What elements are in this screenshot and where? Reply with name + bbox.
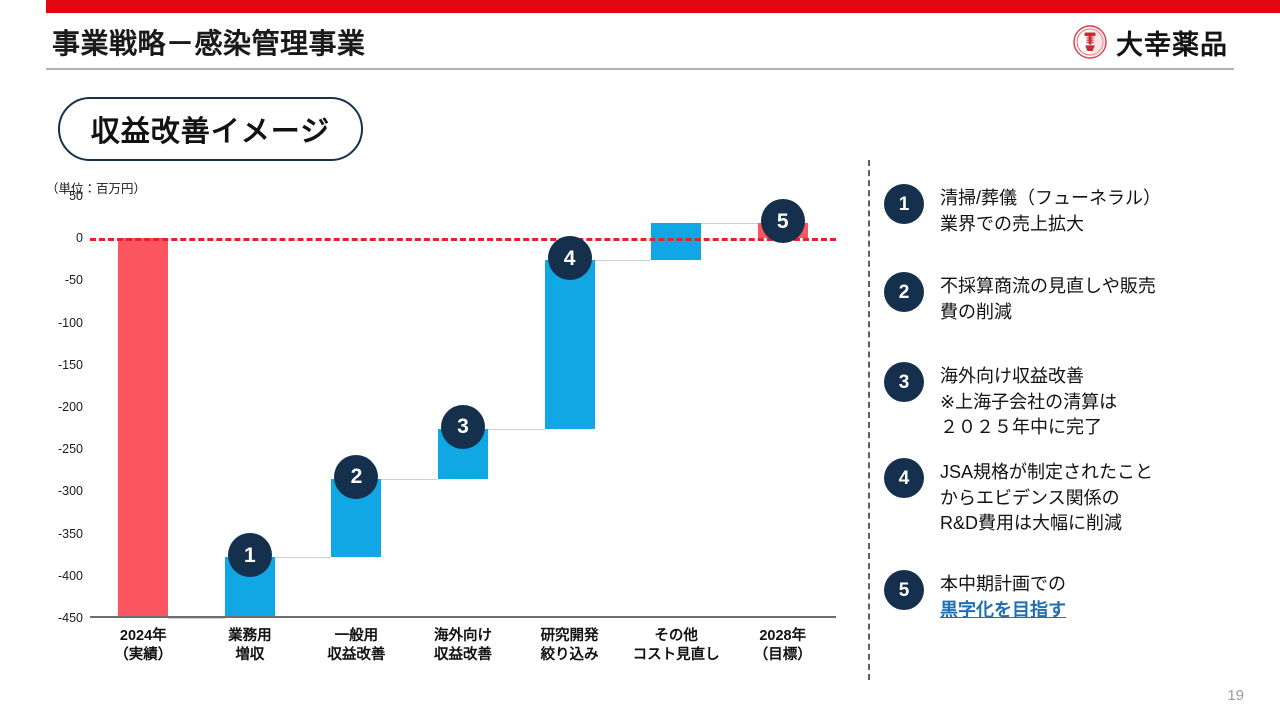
y-tick-label: -250 [58,442,83,456]
waterfall-connector [595,260,651,261]
x-axis-category-label: 海外向け収益改善 [434,627,492,665]
note-text-5: 本中期計画での黒字化を目指す [940,570,1066,623]
note-text-1: 清掃/葬儀（フューネラル） 業界での売上拡大 [940,184,1161,237]
note-emphasis-5[interactable]: 黒字化を目指す [940,600,1066,620]
waterfall-bar [545,260,595,429]
note-text-4: JSA規格が制定されたこと からエビデンス関係の R&D費用は大幅に削減 [940,458,1153,537]
y-tick-label: -300 [58,484,83,498]
waterfall-bar [118,238,168,618]
y-tick-label: -200 [58,400,83,414]
note-item-2: 2不採算商流の見直しや販売 費の削減 [884,272,1256,325]
y-tick-label: 50 [69,189,83,203]
y-tick-label: -150 [58,358,83,372]
page-title: 事業戦略－感染管理事業 [52,22,366,62]
y-tick-label: -400 [58,569,83,583]
note-badge-3: 3 [884,362,924,402]
note-item-3: 3海外向け収益改善 ※上海子会社の清算は ２０２５年中に完了 [884,362,1256,441]
x-axis-category-label: 2024年（実績） [114,627,172,665]
section-pill: 収益改善イメージ [58,97,363,161]
x-axis-category-label: その他コスト見直し [633,627,720,665]
chart-step-badge-2: 2 [334,455,378,499]
x-axis-category-label: 一般用収益改善 [327,627,385,665]
note-item-5: 5本中期計画での黒字化を目指す [884,570,1256,623]
daiko-seal-icon [1073,25,1107,59]
note-text-2: 不採算商流の見直しや販売 費の削減 [940,272,1156,325]
x-axis-line [90,616,836,618]
waterfall-connector [488,429,544,430]
brand-logo: 大幸薬品 [1073,24,1228,60]
note-badge-2: 2 [884,272,924,312]
chart-plot-area: 500-50-100-150-200-250-300-350-400-450 2… [90,196,836,618]
waterfall-connector [381,479,437,480]
waterfall-connector [701,223,757,224]
waterfall-connector [168,618,224,619]
chart-step-badge-5: 5 [761,199,805,243]
x-axis-category-label: 2028年（目標） [754,627,812,665]
note-badge-4: 4 [884,458,924,498]
y-tick-label: 0 [76,231,83,245]
header-divider [46,68,1234,70]
y-tick-label: -50 [65,273,83,287]
y-tick-label: -100 [58,316,83,330]
note-text-3: 海外向け収益改善 ※上海子会社の清算は ２０２５年中に完了 [940,362,1117,441]
x-axis-category-label: 研究開発絞り込み [541,627,599,665]
note-badge-1: 1 [884,184,924,224]
note-item-4: 4JSA規格が制定されたこと からエビデンス関係の R&D費用は大幅に削減 [884,458,1256,537]
panel-divider [868,160,870,680]
note-item-1: 1清掃/葬儀（フューネラル） 業界での売上拡大 [884,184,1256,237]
page-number: 19 [1227,687,1244,704]
zero-reference-line [90,238,836,241]
chart-step-badge-4: 4 [548,236,592,280]
top-accent-bar [46,0,1280,13]
waterfall-chart: 500-50-100-150-200-250-300-350-400-450 2… [46,196,846,676]
chart-unit-note: （単位：百万円） [46,178,146,197]
y-tick-label: -350 [58,527,83,541]
chart-step-badge-3: 3 [441,405,485,449]
brand-name: 大幸薬品 [1116,23,1228,62]
waterfall-connector [275,557,331,558]
note-badge-5: 5 [884,570,924,610]
x-axis-category-label: 業務用増収 [228,627,272,665]
y-tick-label: -450 [58,611,83,625]
chart-step-badge-1: 1 [228,533,272,577]
section-pill-label: 収益改善イメージ [91,108,330,150]
waterfall-bar [651,223,701,260]
